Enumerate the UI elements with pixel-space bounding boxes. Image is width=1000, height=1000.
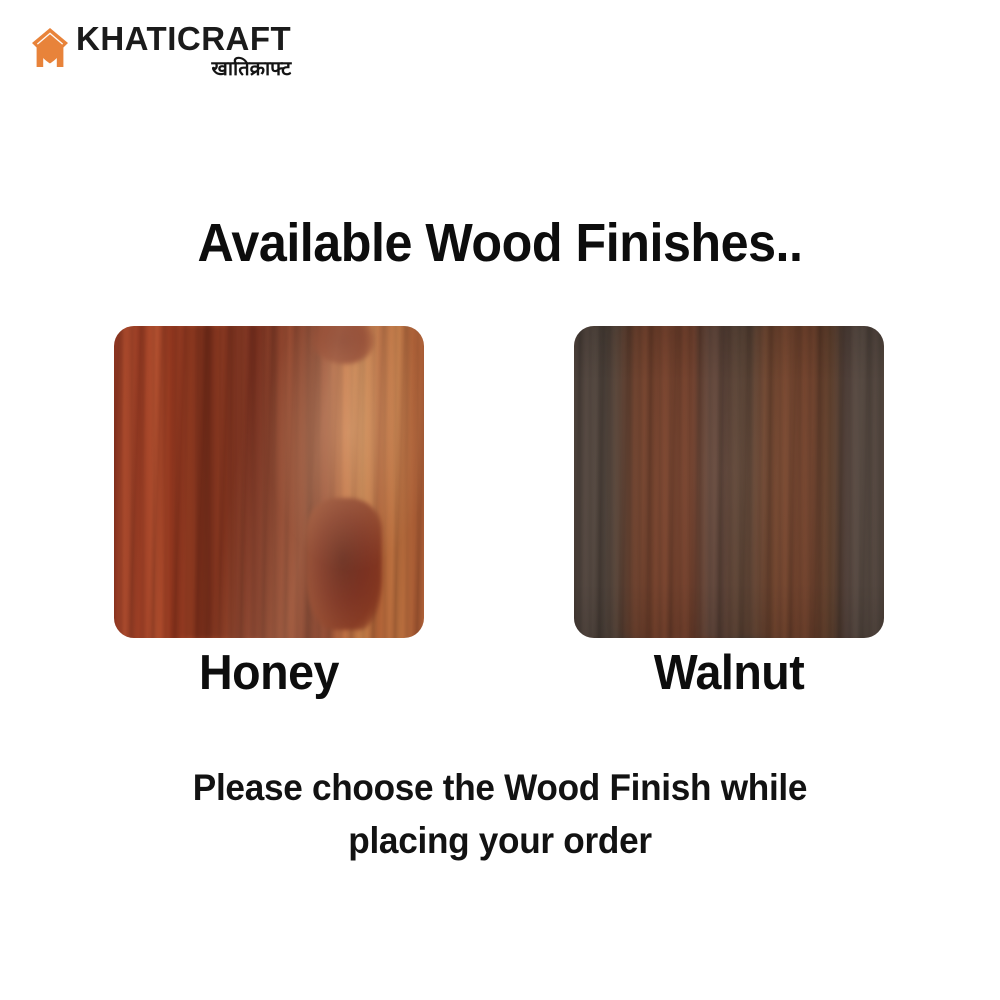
instruction-note: Please choose the Wood Finish while plac… (158, 762, 842, 867)
finish-label-honey: Honey (122, 648, 417, 699)
house-heart-icon (30, 26, 70, 70)
brand-logo[interactable]: KHATICRAFT खातिक्राफ्ट (30, 22, 291, 81)
honey-highlight-overlay (114, 326, 424, 638)
wood-finishes-poster: KHATICRAFT खातिक्राफ्ट Available Wood Fi… (0, 0, 1000, 1000)
finish-option-walnut[interactable]: Walnut (574, 326, 884, 699)
brand-subtitle-devanagari: खातिक्राफ्ट (211, 58, 291, 81)
finish-swatch-row: Honey Walnut (0, 326, 1000, 696)
finish-option-honey[interactable]: Honey (114, 326, 424, 699)
brand-name: KHATICRAFT (76, 22, 291, 56)
finish-label-walnut: Walnut (582, 648, 877, 699)
honey-wood-swatch[interactable] (114, 326, 424, 638)
page-title: Available Wood Finishes.. (35, 212, 965, 274)
brand-text-block: KHATICRAFT खातिक्राफ्ट (76, 22, 291, 81)
walnut-shading-overlay (574, 326, 884, 638)
walnut-wood-swatch[interactable] (574, 326, 884, 638)
